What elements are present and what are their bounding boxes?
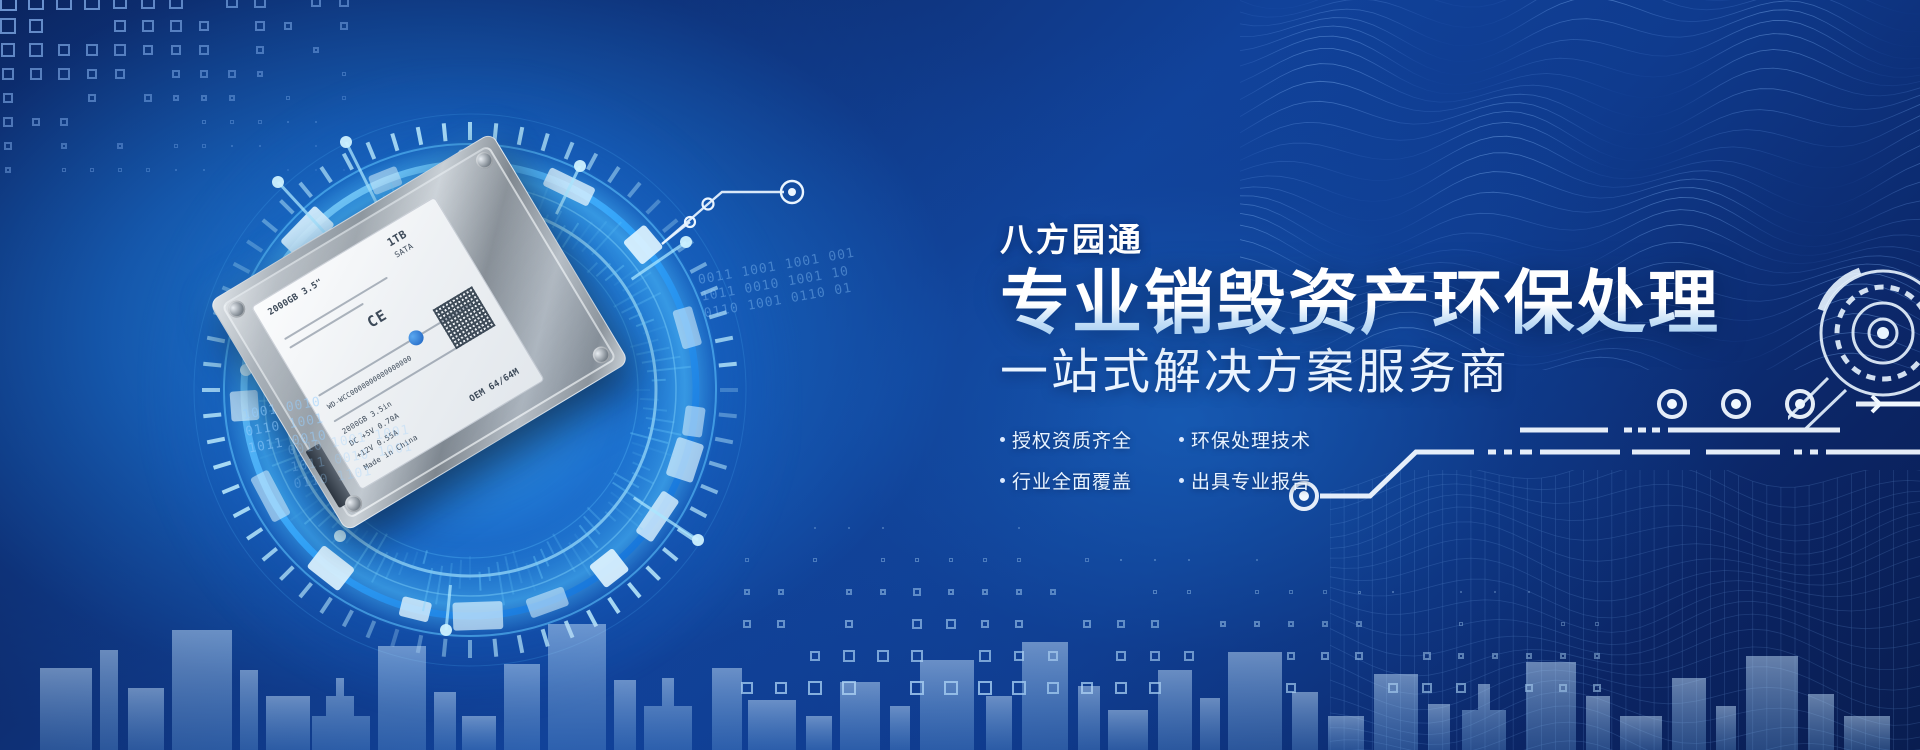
feature-list: 授权资质齐全 环保处理技术 行业全面覆盖 出具专业报告	[1000, 426, 1760, 494]
decor-square	[313, 47, 320, 54]
city-skyline-decoration	[0, 520, 1920, 750]
hdd-label-ce-mark: CE	[364, 306, 390, 332]
decor-square	[56, 0, 72, 10]
decor-square	[90, 168, 94, 172]
decor-square	[114, 20, 127, 33]
decor-square	[60, 118, 68, 126]
banner-copy-block: 八方园通 专业销毁资产环保处理 一站式解决方案服务商 授权资质齐全 环保处理技术…	[1000, 222, 1760, 494]
decor-square	[141, 0, 155, 9]
decor-square	[87, 69, 97, 79]
decor-square	[118, 168, 122, 172]
hdd-label-rule	[333, 343, 462, 422]
feature-item-0: 授权资质齐全	[1000, 426, 1165, 453]
decor-square	[339, 0, 348, 7]
decor-square	[29, 19, 44, 34]
decor-square	[2, 68, 14, 80]
decor-square	[199, 45, 208, 54]
feature-label: 授权资质齐全	[1012, 426, 1132, 453]
decor-square	[5, 167, 11, 173]
decor-square	[0, 0, 17, 11]
decor-square	[30, 68, 42, 80]
decor-square	[142, 20, 154, 32]
decor-square	[143, 45, 154, 56]
decor-square	[254, 0, 265, 8]
decor-square	[170, 20, 182, 32]
decor-square	[114, 44, 125, 55]
decor-square	[3, 117, 12, 126]
decor-square	[61, 143, 68, 150]
decor-square	[28, 0, 44, 10]
feature-item-1: 环保处理技术	[1179, 426, 1344, 453]
decor-square	[3, 93, 14, 104]
decor-square	[169, 0, 182, 9]
decor-square	[1, 43, 15, 57]
decor-square	[88, 94, 97, 103]
hdd-label-barcode	[433, 286, 496, 349]
feature-label: 出具专业报告	[1191, 467, 1311, 494]
feature-label: 环保处理技术	[1191, 426, 1311, 453]
decor-square	[4, 142, 12, 150]
decor-square	[62, 168, 67, 173]
decor-square	[255, 21, 265, 31]
bullet-icon	[1179, 478, 1184, 483]
tech-ring-right-decoration	[1788, 238, 1920, 428]
decor-square	[32, 118, 41, 127]
feature-item-2: 行业全面覆盖	[1000, 467, 1165, 494]
connector-line-decoration	[660, 170, 820, 250]
decor-square	[29, 43, 42, 56]
decor-square	[311, 0, 321, 7]
decor-square	[86, 44, 98, 56]
decor-square	[340, 22, 348, 30]
decor-square	[284, 22, 293, 31]
decor-square	[84, 0, 99, 10]
hdd-label-rule	[289, 303, 363, 349]
decor-square	[199, 21, 210, 32]
decor-square	[58, 68, 69, 79]
headline: 专业销毁资产环保处理	[1000, 266, 1760, 340]
hero-banner: 2000GB 3.5" 1TB SATA CE WD-WCC0000000000…	[0, 0, 1920, 750]
hdd-label-form: OEM 64/64M	[468, 367, 521, 405]
feature-item-3: 出具专业报告	[1179, 467, 1344, 494]
decor-square	[226, 0, 238, 8]
decor-square	[117, 143, 122, 148]
feature-label: 行业全面覆盖	[1012, 467, 1132, 494]
decor-square	[115, 69, 125, 79]
decor-square	[58, 44, 71, 57]
decor-square	[256, 46, 264, 54]
subheadline: 一站式解决方案服务商	[1000, 346, 1760, 400]
decor-square	[0, 18, 15, 33]
decor-square	[171, 45, 181, 55]
bullet-icon	[1000, 437, 1005, 442]
brand-name: 八方园通	[1000, 222, 1760, 258]
bullet-icon	[1179, 437, 1184, 442]
bullet-icon	[1000, 478, 1005, 483]
decor-square	[113, 0, 127, 9]
